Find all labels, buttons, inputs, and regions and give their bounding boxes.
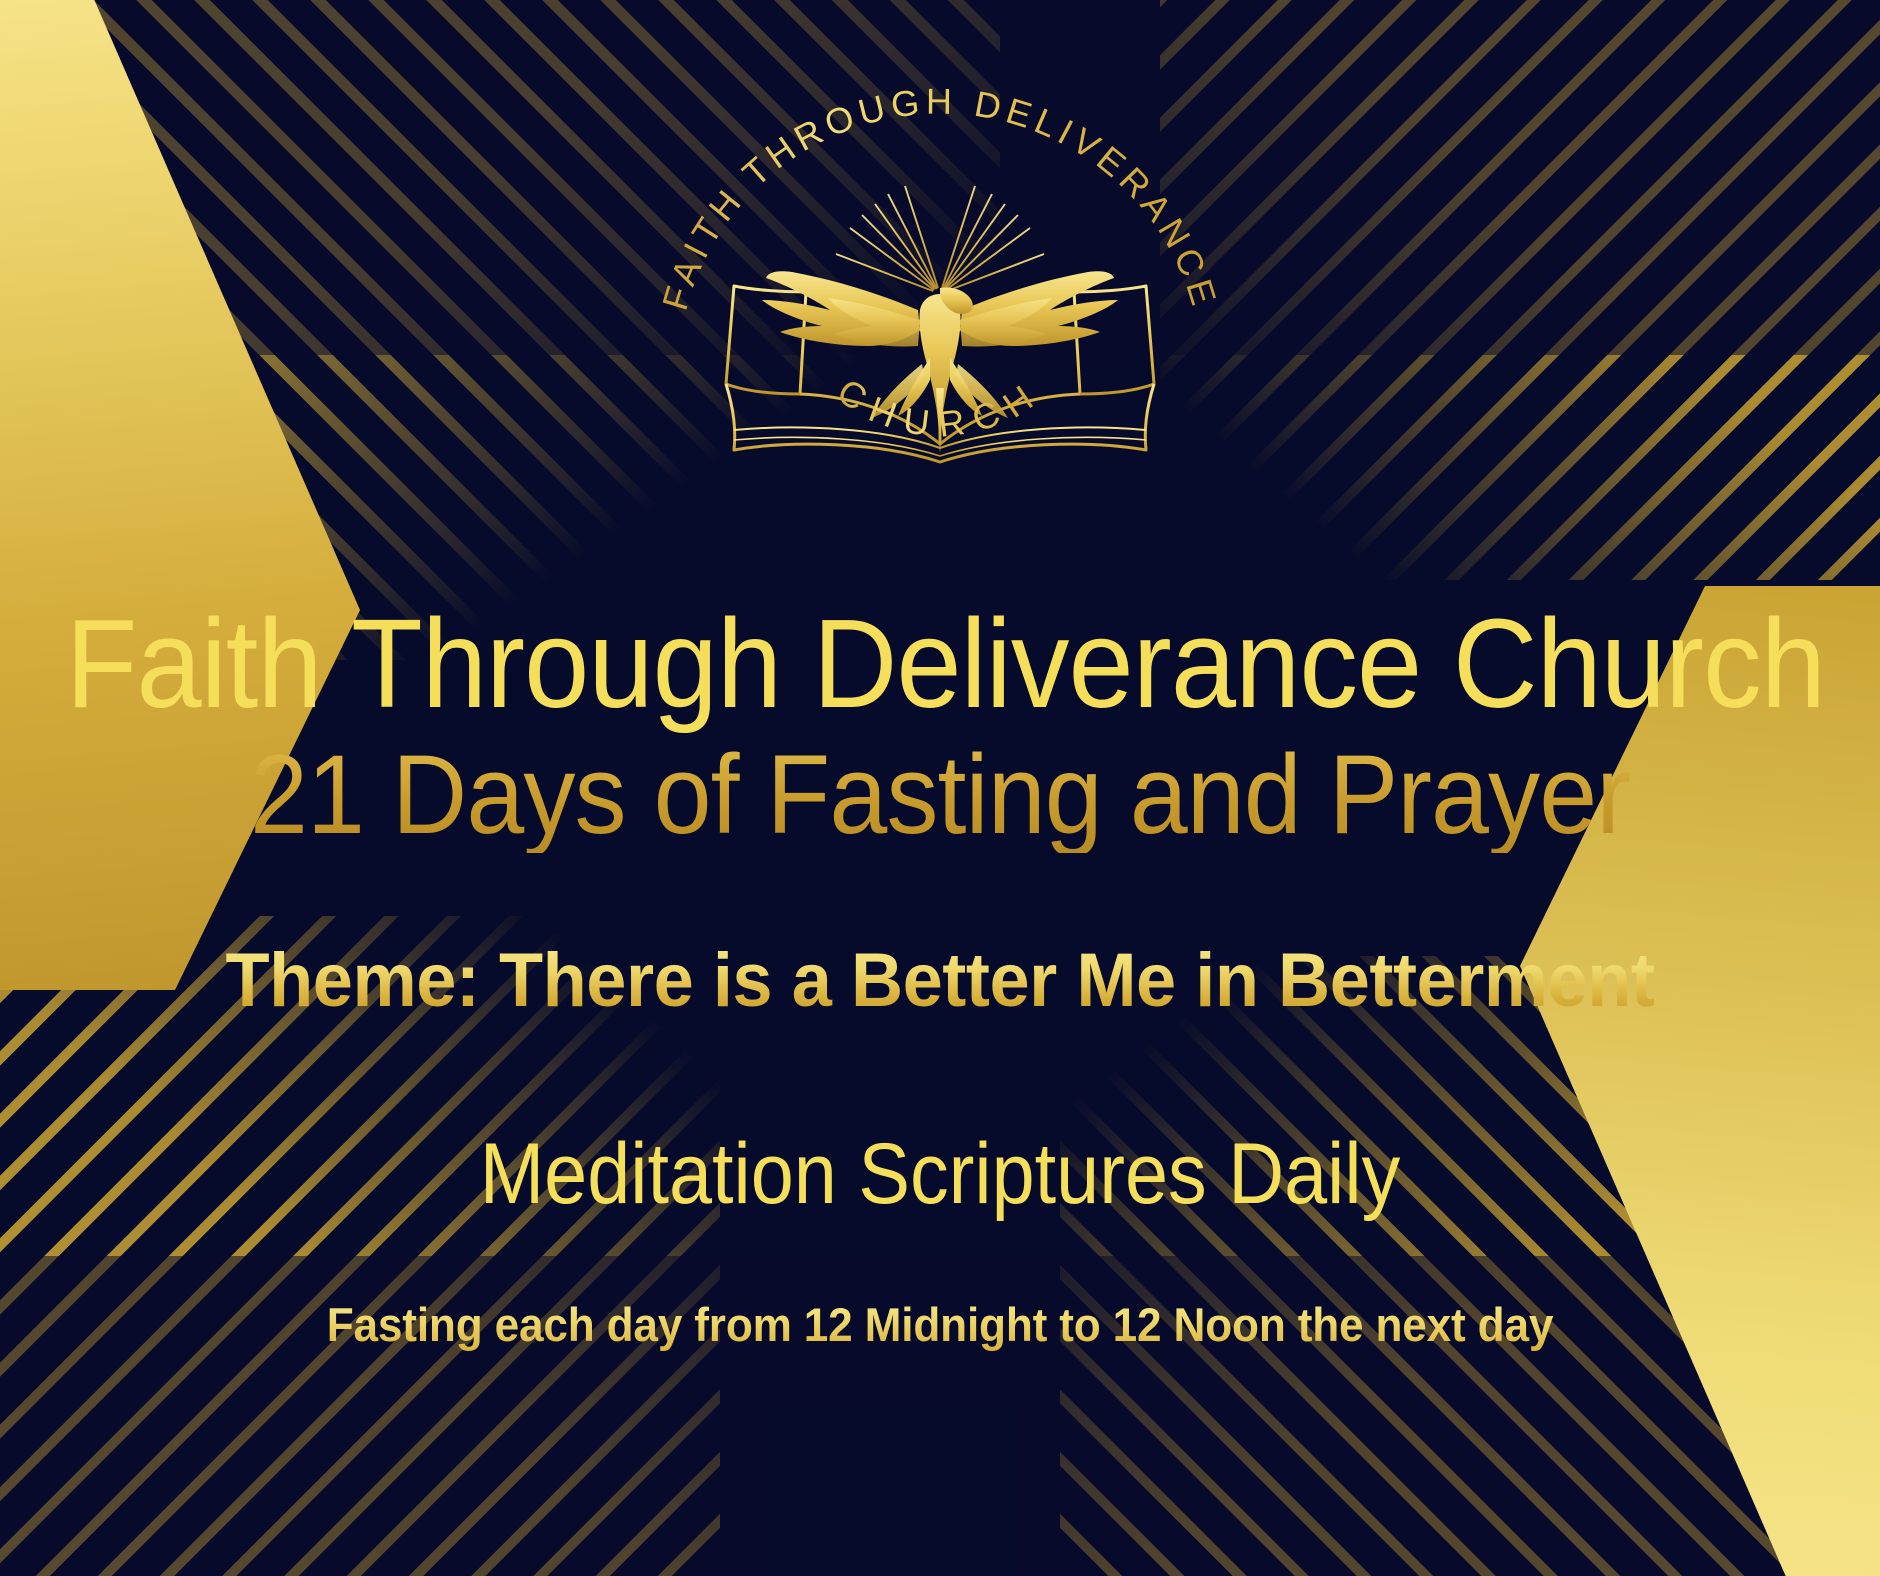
flyer-text-block: Faith Through Deliverance Church 21 Days…: [0, 600, 1880, 1351]
event-subtitle: 21 Days of Fasting and Prayer: [66, 737, 1814, 853]
theme-statement: Theme: There is a Better Me in Bettermen…: [47, 939, 1833, 1023]
page-title: Faith Through Deliverance Church: [66, 600, 1814, 729]
church-fasting-flyer: FAITH THROUGH DELIVERANCE: [0, 0, 1880, 1576]
diagonal-stripes-top-right: [1160, 0, 1880, 580]
meditation-note: Meditation Scriptures Daily: [94, 1127, 1786, 1222]
fasting-schedule: Fasting each day from 12 Midnight to 12 …: [56, 1299, 1823, 1351]
church-logo: FAITH THROUGH DELIVERANCE: [630, 58, 1250, 488]
starburst-icon: [836, 176, 1044, 291]
